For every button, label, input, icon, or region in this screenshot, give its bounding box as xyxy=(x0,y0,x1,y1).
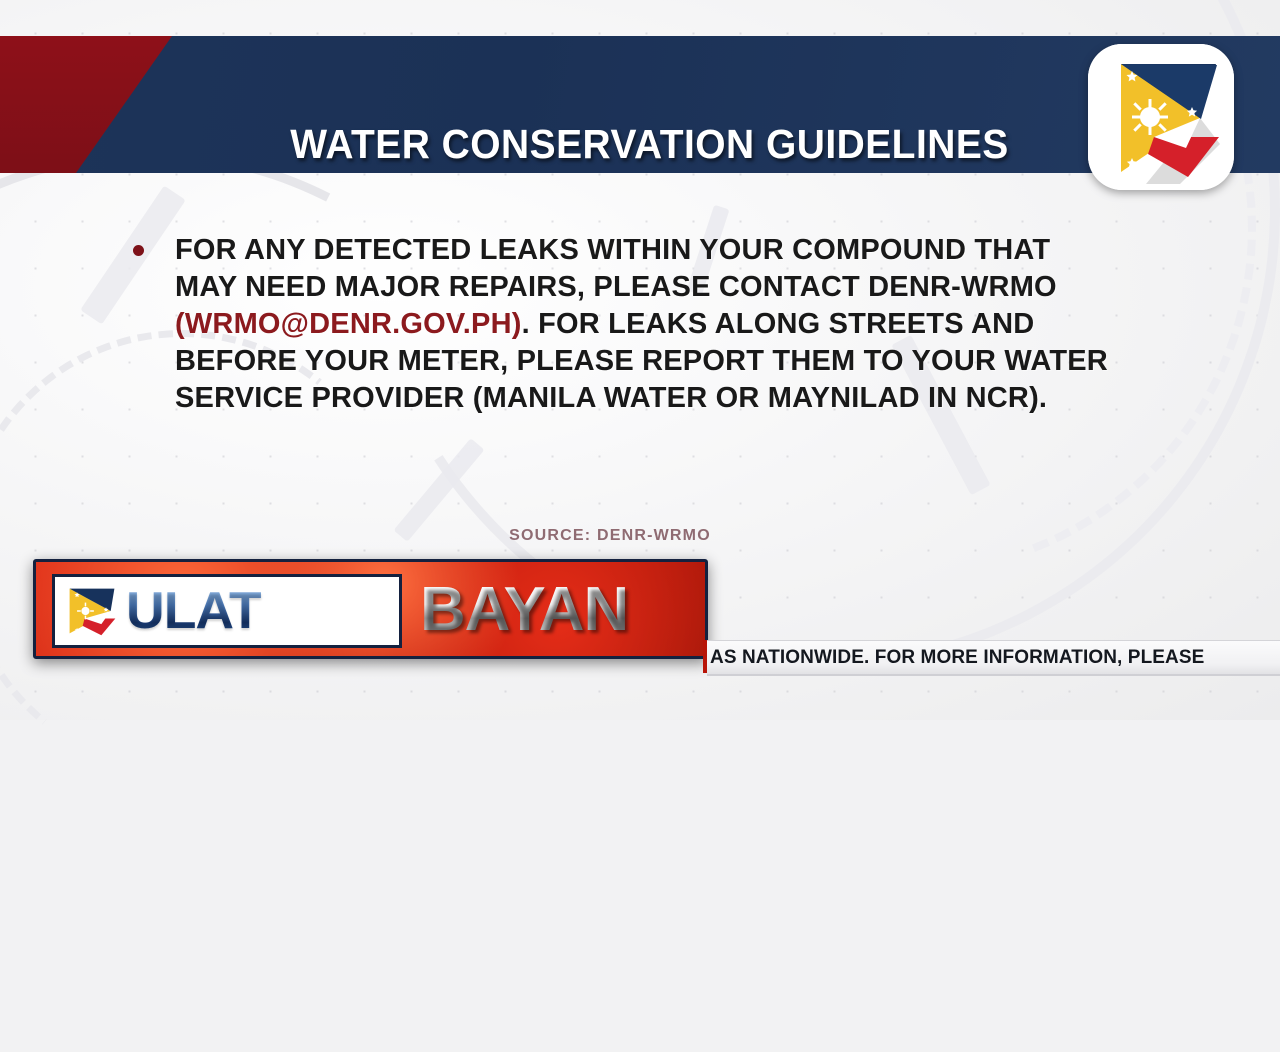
news-ticker-bar: AS NATIONWIDE. FOR MORE INFORMATION, PLE… xyxy=(707,640,1280,676)
ulat-logo-plate: ULAT xyxy=(52,574,402,648)
source-attribution: SOURCE: DENR-WRMO xyxy=(0,527,1280,545)
bullet-text-part-1: FOR ANY DETECTED LEAKS WITHIN YOUR COMPO… xyxy=(175,234,1057,303)
program-name-ulat: ULAT xyxy=(126,585,261,637)
page-title: WATER CONSERVATION GUIDELINES GOV'T OFFI… xyxy=(32,78,1248,173)
bullet-marker-icon xyxy=(133,245,144,256)
title-line-1: WATER CONSERVATION GUIDELINES xyxy=(51,122,1248,166)
ptv-logo-badge xyxy=(1088,44,1234,190)
email-address-highlight: (WRMO@DENR.GOV.PH) xyxy=(175,308,522,340)
guideline-bullet-text: FOR ANY DETECTED LEAKS WITHIN YOUR COMPO… xyxy=(175,232,1115,417)
ticker-text: AS NATIONWIDE. FOR MORE INFORMATION, PLE… xyxy=(710,647,1204,669)
ptv-philippine-flag-logo xyxy=(1088,44,1234,190)
lower-third-banner: ULAT BAYAN xyxy=(33,559,708,659)
ptv-philippine-flag-logo xyxy=(64,583,120,639)
program-name-bayan: BAYAN xyxy=(420,576,628,644)
